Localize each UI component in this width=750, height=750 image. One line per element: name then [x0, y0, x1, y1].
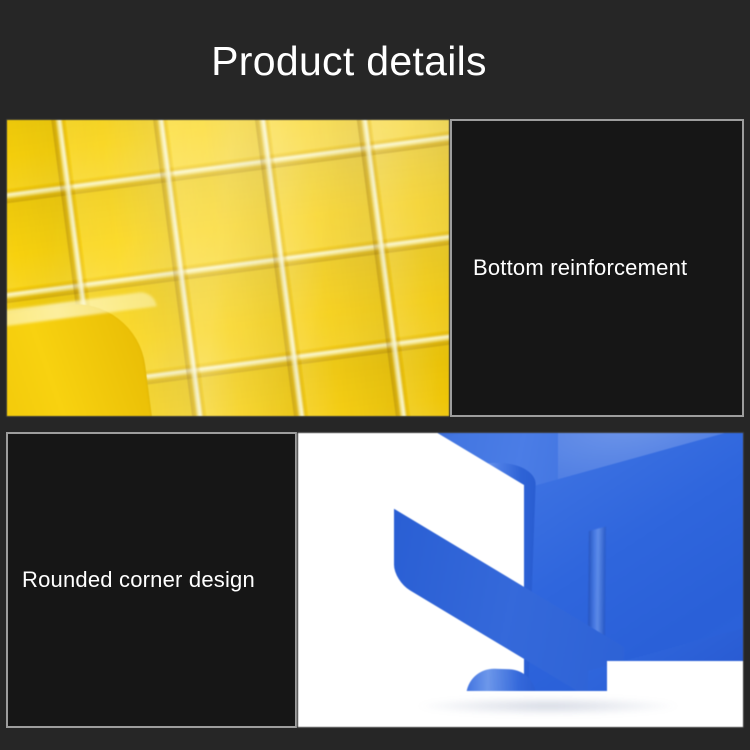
blue-photo-stage	[298, 433, 743, 727]
blue-crate-corner-photo	[297, 432, 744, 728]
yellow-photo-stage	[7, 120, 449, 416]
caption-panel-bottom-reinforcement: Bottom reinforcement	[450, 119, 744, 417]
caption-label: Rounded corner design	[8, 567, 255, 593]
detail-row-bottom-reinforcement: Bottom reinforcement	[6, 119, 744, 417]
photo-background-right	[607, 661, 743, 727]
crate-contact-shadow	[418, 697, 678, 715]
caption-label: Bottom reinforcement	[452, 255, 687, 281]
caption-panel-rounded-corner: Rounded corner design	[6, 432, 297, 728]
yellow-crate-bottom-photo	[6, 119, 450, 417]
detail-row-rounded-corner: Rounded corner design	[6, 432, 744, 728]
product-details-page: Product details Bottom reinforcement Rou…	[0, 0, 750, 750]
page-title: Product details	[0, 36, 750, 86]
